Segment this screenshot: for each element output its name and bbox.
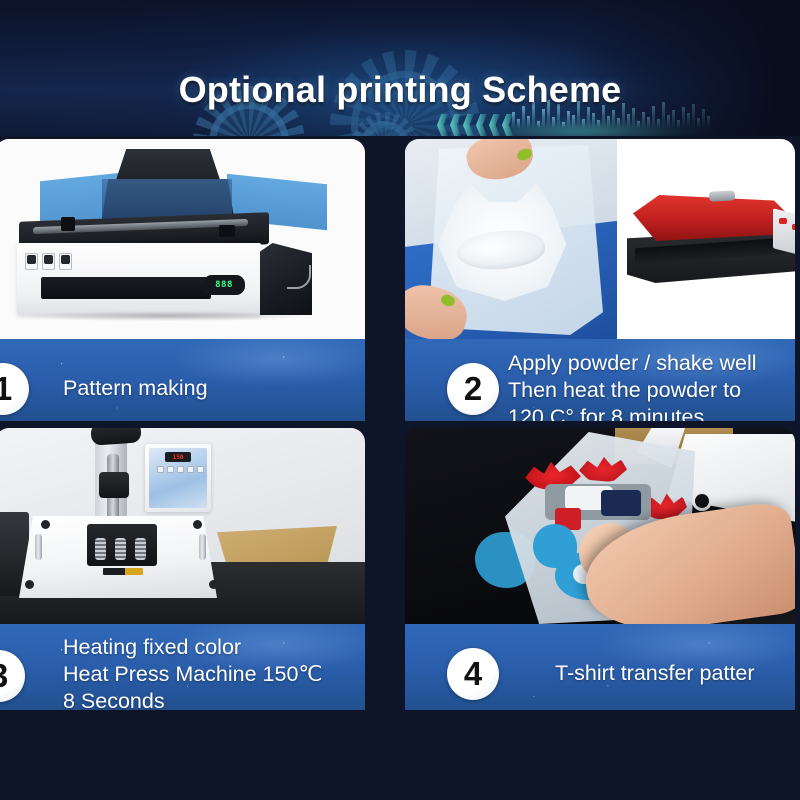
printer-head-block	[61, 217, 75, 231]
caption-line: Heating fixed color	[63, 634, 323, 661]
tech-bar	[552, 117, 555, 128]
power-button-icon	[25, 253, 38, 270]
press-clamp	[99, 472, 129, 498]
press-key[interactable]	[187, 466, 194, 473]
oven-handle	[709, 190, 735, 201]
press-handle-grip[interactable]	[199, 534, 206, 560]
caption-line: Apply powder / shake well	[508, 350, 757, 377]
step-1-caption-bar: 1 Pattern making	[0, 339, 365, 421]
caption-line: T-shirt transfer patter	[555, 660, 755, 687]
printer-display: 888	[203, 275, 245, 295]
press-handle-grip[interactable]	[35, 534, 42, 560]
press-keypad[interactable]	[157, 466, 204, 473]
step-2-caption-text: Apply powder / shake well Then heat the …	[508, 350, 757, 421]
curing-oven-photo	[617, 139, 795, 339]
caption-line: 8 Seconds	[63, 688, 323, 710]
step-4-caption-bar: 4 T-shirt transfer patter	[405, 624, 795, 710]
oven-knob-icon	[792, 224, 795, 230]
press-label	[103, 568, 143, 575]
chevron-left-icon	[437, 114, 513, 136]
caption-line: Heat Press Machine 150℃	[63, 661, 323, 688]
steps-grid: 888 1 Pattern making	[0, 136, 800, 712]
press-key[interactable]	[177, 466, 184, 473]
tech-bar	[527, 116, 530, 128]
press-key[interactable]	[197, 466, 204, 473]
page-title: Optional printing Scheme	[0, 72, 800, 108]
step-1-caption-text: Pattern making	[63, 375, 208, 402]
press-key[interactable]	[157, 466, 164, 473]
step-3-caption-text: Heating fixed color Heat Press Machine 1…	[63, 634, 323, 710]
printer-shadow	[21, 311, 311, 321]
caption-line: 120 C° for 8 minutes	[508, 404, 757, 421]
press-spring	[135, 538, 146, 560]
feed-button-icon	[42, 253, 55, 270]
press-bolt	[193, 520, 202, 529]
tech-bar	[537, 121, 540, 128]
press-bolt	[695, 494, 709, 508]
header-right-fade	[570, 0, 800, 136]
press-bolt	[209, 580, 218, 589]
tech-bar	[562, 122, 565, 128]
caption-line: Pattern making	[63, 375, 208, 402]
step-3-photo: 150	[0, 428, 365, 624]
press-bolt	[41, 520, 50, 529]
caption-line: Then heat the powder to	[508, 377, 757, 404]
step-card-3[interactable]: 150	[0, 428, 365, 710]
step-2-photo	[405, 139, 795, 339]
oven-knob-icon	[779, 218, 787, 224]
printer-head-block	[219, 225, 235, 237]
artwork-navy-shape	[601, 490, 641, 516]
step-3-caption-bar: 3 Heating fixed color Heat Press Machine…	[0, 624, 365, 710]
step-number-badge: 2	[447, 363, 499, 415]
step-card-1[interactable]: 888 1 Pattern making	[0, 139, 365, 421]
press-bolt	[25, 580, 34, 589]
step-4-photo	[405, 428, 795, 624]
step-number-badge: 4	[447, 648, 499, 700]
press-temperature-display: 150	[165, 452, 191, 462]
press-spring	[115, 538, 126, 560]
powder-film-photo	[405, 139, 617, 339]
step-card-4[interactable]: 4 T-shirt transfer patter	[405, 428, 795, 710]
printer-output-slot	[41, 277, 211, 299]
step-4-caption-text: T-shirt transfer patter	[555, 660, 755, 687]
ink-button-icon	[59, 253, 72, 270]
printer-display-value: 888	[215, 280, 233, 290]
tech-bar	[512, 112, 515, 128]
press-display-value: 150	[173, 454, 184, 461]
tech-bar	[517, 119, 520, 128]
header-banner: Optional printing Scheme	[0, 0, 800, 136]
step-card-2[interactable]: 2 Apply powder / shake well Then heat th…	[405, 139, 795, 421]
step-2-caption-bar: 2 Apply powder / shake well Then heat th…	[405, 339, 795, 421]
printer-button-row	[25, 253, 72, 270]
infographic-root: Optional printing Scheme	[0, 0, 800, 800]
step-number-badge: 3	[0, 650, 25, 702]
press-key[interactable]	[167, 466, 174, 473]
press-spring	[95, 538, 106, 560]
tech-bar	[542, 109, 545, 128]
oven-red-lid	[633, 195, 795, 241]
step-number-badge: 1	[0, 363, 29, 415]
step-1-photo: 888	[0, 139, 365, 339]
